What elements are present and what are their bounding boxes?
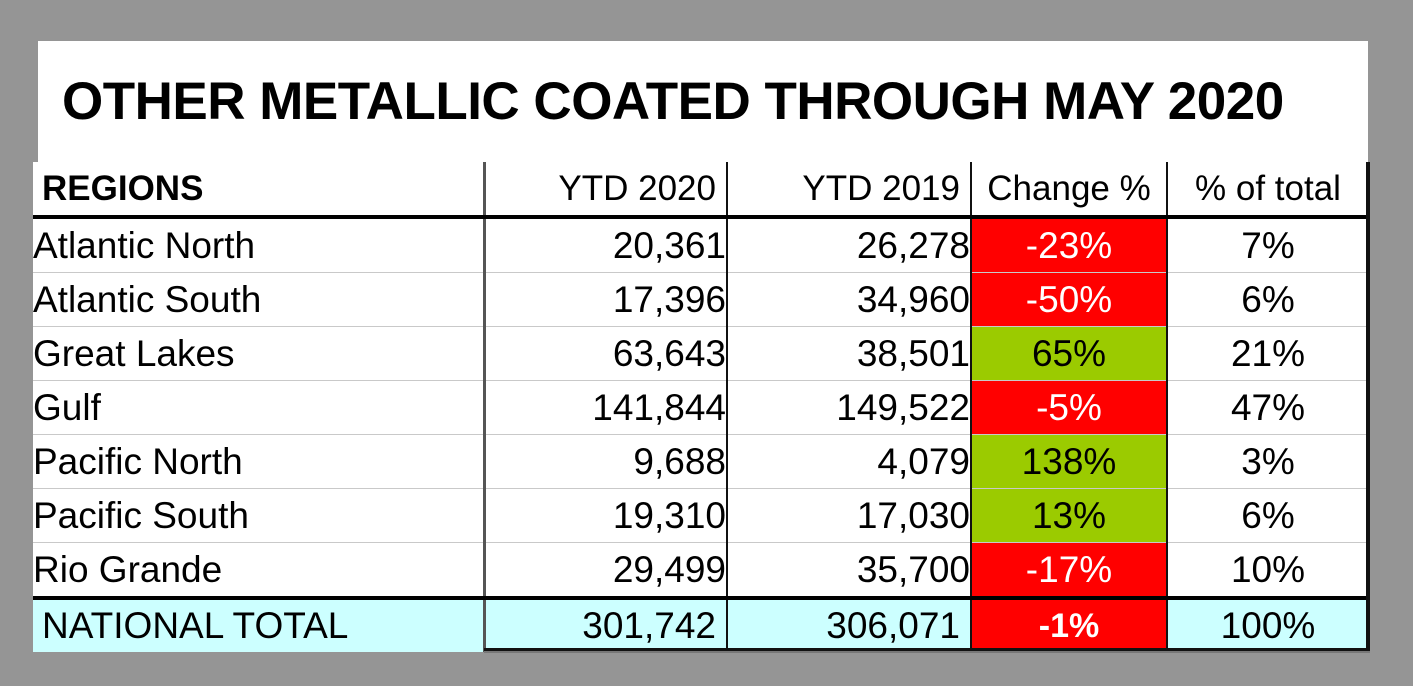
table-body: REGIONS YTD 2020 YTD 2019 Change % % of … <box>33 162 1368 652</box>
cell-ytd-2020: 9,688 <box>484 435 727 489</box>
cell-pct-total: 21% <box>1167 327 1368 381</box>
cell-change-pct: -17% <box>971 543 1167 599</box>
table-row: Great Lakes63,64338,50165%21% <box>33 327 1368 381</box>
cell-pct-total: 6% <box>1167 489 1368 543</box>
cell-region: Atlantic North <box>33 217 484 273</box>
column-header-pct-total: % of total <box>1167 162 1368 217</box>
cell-pct-total: 3% <box>1167 435 1368 489</box>
cell-ytd-2020: 141,844 <box>484 381 727 435</box>
column-header-ytd-2019: YTD 2019 <box>727 162 971 217</box>
table-row: Pacific North9,6884,079138%3% <box>33 435 1368 489</box>
cell-change-pct: 65% <box>971 327 1167 381</box>
column-header-regions: REGIONS <box>33 162 484 217</box>
report-container: OTHER METALLIC COATED THROUGH MAY 2020 R… <box>0 0 1413 686</box>
table-row: Atlantic North20,36126,278-23%7% <box>33 217 1368 273</box>
cell-ytd-2020: 63,643 <box>484 327 727 381</box>
report-title-banner: OTHER METALLIC COATED THROUGH MAY 2020 <box>38 41 1368 162</box>
cell-ytd-2019: 38,501 <box>727 327 971 381</box>
table-row: Atlantic South17,39634,960-50%6% <box>33 273 1368 327</box>
cell-ytd-2019: 17,030 <box>727 489 971 543</box>
page-title: OTHER METALLIC COATED THROUGH MAY 2020 <box>62 75 1284 128</box>
total-label: NATIONAL TOTAL <box>33 598 484 652</box>
total-ytd-2019: 306,071 <box>727 598 971 652</box>
column-header-ytd-2020: YTD 2020 <box>484 162 727 217</box>
cell-pct-total: 7% <box>1167 217 1368 273</box>
cell-ytd-2019: 34,960 <box>727 273 971 327</box>
cell-ytd-2020: 29,499 <box>484 543 727 599</box>
table-header-row: REGIONS YTD 2020 YTD 2019 Change % % of … <box>33 162 1368 217</box>
regions-data-table: REGIONS YTD 2020 YTD 2019 Change % % of … <box>33 162 1368 652</box>
data-table-wrapper: REGIONS YTD 2020 YTD 2019 Change % % of … <box>33 162 1368 652</box>
column-header-change-pct: Change % <box>971 162 1167 217</box>
cell-change-pct: 138% <box>971 435 1167 489</box>
cell-region: Atlantic South <box>33 273 484 327</box>
cell-region: Great Lakes <box>33 327 484 381</box>
cell-region: Gulf <box>33 381 484 435</box>
table-right-rule <box>1366 162 1370 652</box>
cell-pct-total: 6% <box>1167 273 1368 327</box>
cell-ytd-2020: 17,396 <box>484 273 727 327</box>
cell-change-pct: -5% <box>971 381 1167 435</box>
table-bottom-rule <box>484 648 1370 653</box>
table-total-row: NATIONAL TOTAL301,742306,071-1%100% <box>33 598 1368 652</box>
cell-change-pct: -50% <box>971 273 1167 327</box>
total-pct-total: 100% <box>1167 598 1368 652</box>
cell-ytd-2020: 20,361 <box>484 217 727 273</box>
cell-pct-total: 10% <box>1167 543 1368 599</box>
cell-region: Pacific South <box>33 489 484 543</box>
cell-region: Pacific North <box>33 435 484 489</box>
cell-ytd-2019: 149,522 <box>727 381 971 435</box>
cell-region: Rio Grande <box>33 543 484 599</box>
total-ytd-2020: 301,742 <box>484 598 727 652</box>
table-row: Gulf141,844149,522-5%47% <box>33 381 1368 435</box>
table-row: Pacific South19,31017,03013%6% <box>33 489 1368 543</box>
cell-ytd-2020: 19,310 <box>484 489 727 543</box>
cell-ytd-2019: 26,278 <box>727 217 971 273</box>
total-change-pct: -1% <box>971 598 1167 652</box>
cell-change-pct: -23% <box>971 217 1167 273</box>
table-row: Rio Grande29,49935,700-17%10% <box>33 543 1368 599</box>
cell-pct-total: 47% <box>1167 381 1368 435</box>
cell-ytd-2019: 4,079 <box>727 435 971 489</box>
cell-change-pct: 13% <box>971 489 1167 543</box>
cell-ytd-2019: 35,700 <box>727 543 971 599</box>
